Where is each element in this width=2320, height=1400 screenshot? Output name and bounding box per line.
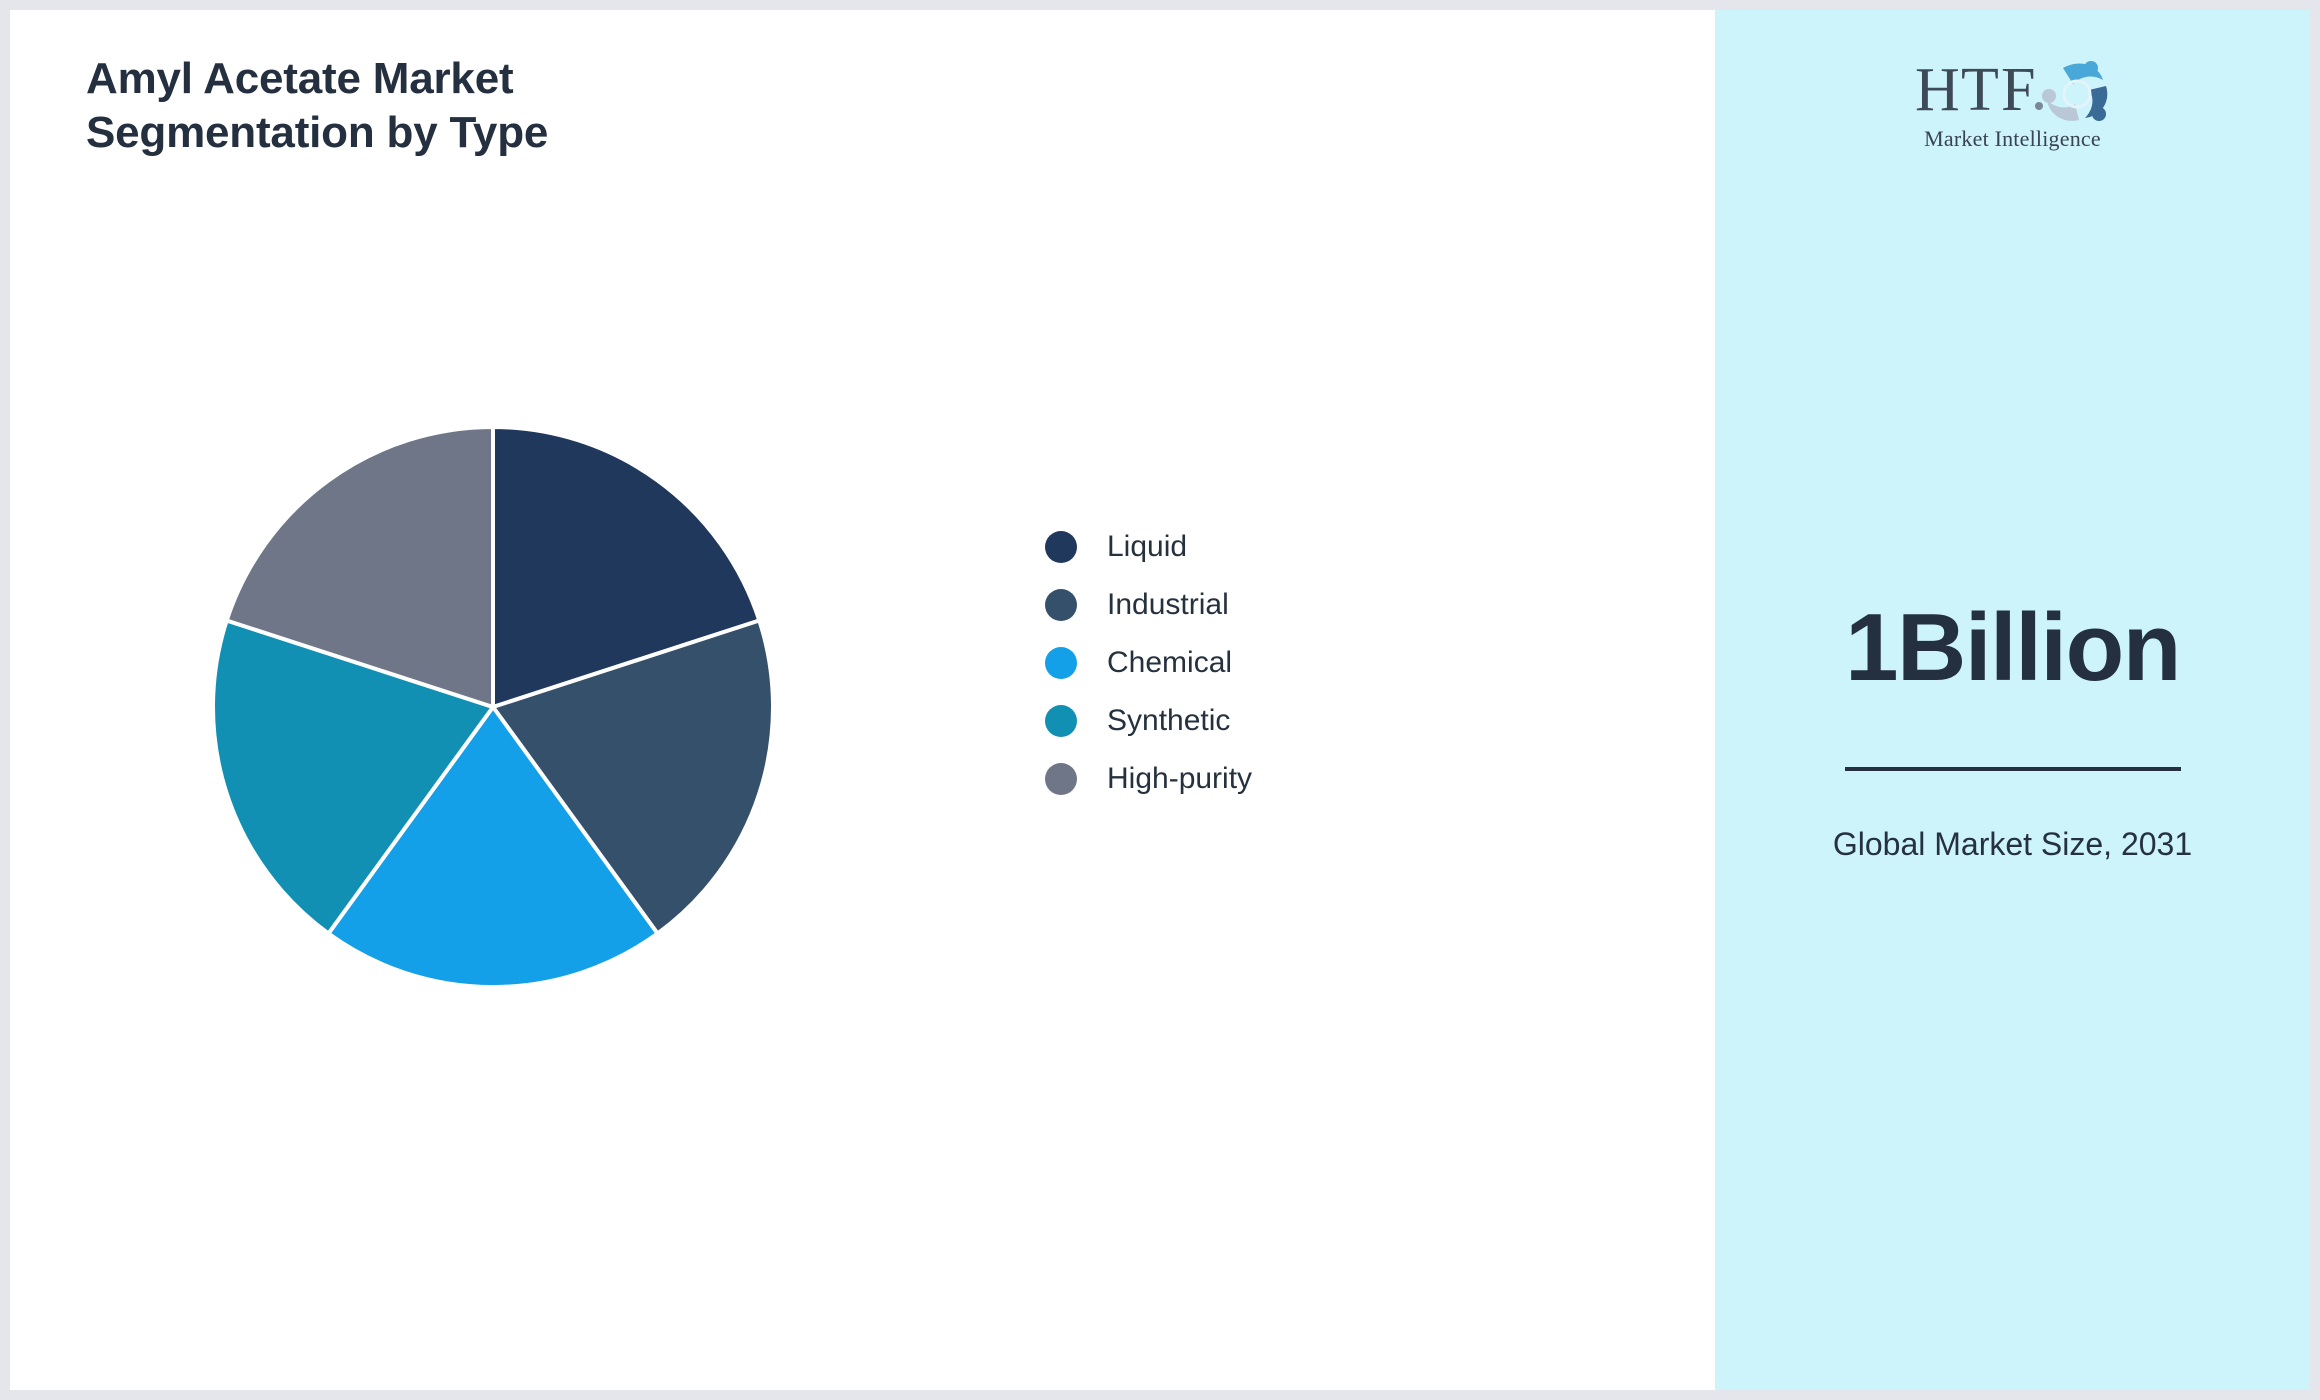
htf-wordmark-icon: H T F xyxy=(1913,52,2113,124)
legend-swatch-icon xyxy=(1045,647,1077,679)
stat-value: 1Billion xyxy=(1755,598,2270,699)
chart-title-line-1: Amyl Acetate Market xyxy=(86,54,513,103)
brand-logo[interactable]: H T F Market Intelligence xyxy=(1898,52,2128,152)
logo-tagline: Market Intelligence xyxy=(1924,126,2101,152)
legend-swatch-icon xyxy=(1045,705,1077,737)
legend-swatch-icon xyxy=(1045,531,1077,563)
stat-divider xyxy=(1845,767,2181,771)
legend-item-chemical[interactable]: Chemical xyxy=(1045,646,1252,680)
three-figures-circle-icon xyxy=(2042,61,2107,121)
chart-title-line-2: Segmentation by Type xyxy=(86,108,548,157)
pie-chart xyxy=(203,417,783,997)
legend-item-synthetic[interactable]: Synthetic xyxy=(1045,704,1252,738)
legend-item-liquid[interactable]: Liquid xyxy=(1045,530,1252,564)
chart-pane: Amyl Acetate Market Segmentation by Type… xyxy=(10,10,1715,1390)
legend-label: Synthetic xyxy=(1107,704,1230,738)
svg-text:T: T xyxy=(1961,56,1999,124)
legend-item-high-purity[interactable]: High-purity xyxy=(1045,762,1252,796)
stat-pane: H T F Market Intelligence 1Billion Gl xyxy=(1715,10,2310,1390)
legend-item-industrial[interactable]: Industrial xyxy=(1045,588,1252,622)
legend-swatch-icon xyxy=(1045,763,1077,795)
page-title: Amyl Acetate Market Segmentation by Type xyxy=(86,52,806,159)
infographic-card: Amyl Acetate Market Segmentation by Type… xyxy=(10,10,2310,1390)
chart-legend: Liquid Industrial Chemical Synthetic Hig… xyxy=(1045,530,1252,796)
svg-text:F: F xyxy=(2001,56,2035,124)
legend-label: Chemical xyxy=(1107,646,1232,680)
stat-block: 1Billion Global Market Size, 2031 xyxy=(1715,598,2310,866)
stat-caption: Global Market Size, 2031 xyxy=(1803,823,2223,866)
legend-label: Industrial xyxy=(1107,588,1229,622)
legend-label: High-purity xyxy=(1107,762,1252,796)
legend-swatch-icon xyxy=(1045,589,1077,621)
pie-chart-svg xyxy=(203,417,783,997)
legend-label: Liquid xyxy=(1107,530,1187,564)
pie-slice-group xyxy=(213,427,773,987)
svg-text:H: H xyxy=(1915,56,1960,124)
